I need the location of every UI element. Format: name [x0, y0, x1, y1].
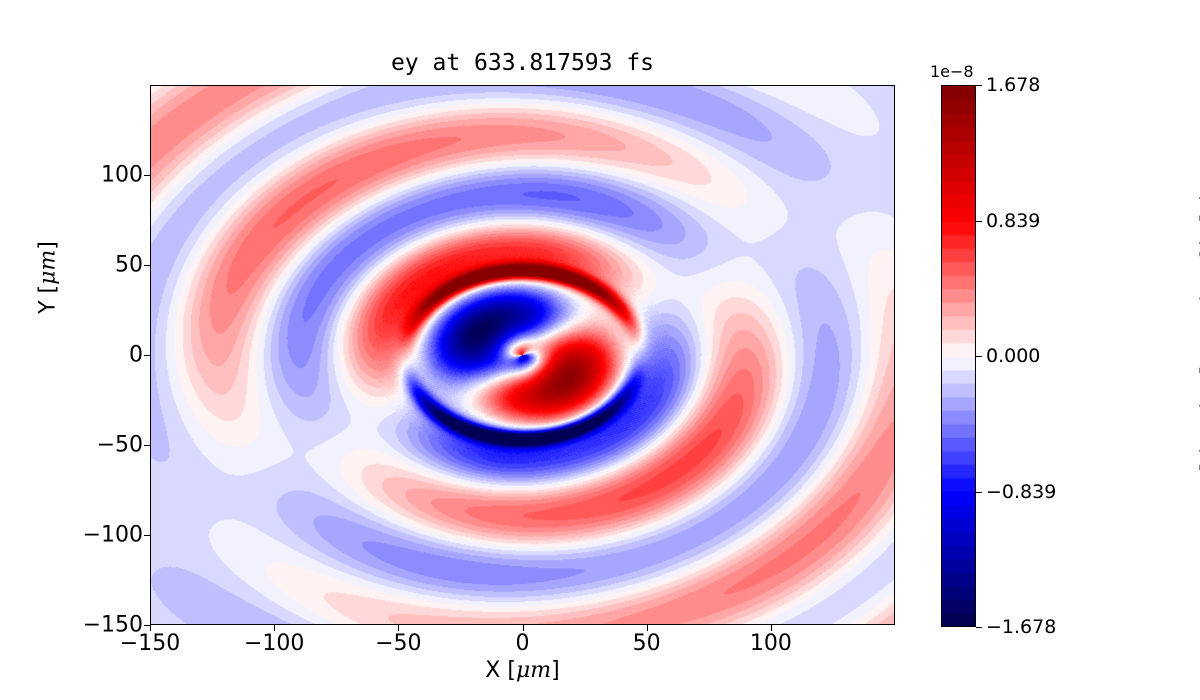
- colorbar-tick-label: 1.678: [986, 74, 1040, 96]
- colorbar-tick-mark: [976, 492, 982, 493]
- y-tick-label: 0: [129, 343, 143, 368]
- plot-title: ey at 633.817593 fs: [150, 50, 895, 76]
- colorbar-tick-label: −0.839: [986, 481, 1056, 503]
- colorbar-tick-mark: [976, 627, 982, 628]
- y-tick-label: 100: [101, 163, 143, 188]
- y-tick-label: −100: [83, 523, 143, 548]
- x-tick-label: −100: [244, 631, 304, 656]
- colorbar-tick-mark: [976, 221, 982, 222]
- colorbar-tick-label: 0.839: [986, 210, 1040, 232]
- y-tick-mark: [144, 445, 150, 446]
- x-tick-label: −50: [375, 631, 421, 656]
- x-axis-label-unit: μm: [516, 658, 551, 683]
- colorbar[interactable]: [941, 85, 976, 627]
- x-tick-label: 50: [633, 631, 661, 656]
- y-tick-mark: [144, 175, 150, 176]
- y-tick-mark: [144, 625, 150, 626]
- y-axis-label-unit: μm: [36, 250, 61, 285]
- x-tick-label: 100: [750, 631, 792, 656]
- x-axis-label: X [μm]: [150, 658, 895, 683]
- y-axis-label-text: Y [: [36, 285, 61, 314]
- y-tick-label: 50: [115, 253, 143, 278]
- x-tick-label: 0: [516, 631, 530, 656]
- y-tick-mark: [144, 535, 150, 536]
- y-axis-label-bracket: ]: [36, 241, 61, 250]
- y-tick-mark: [144, 355, 150, 356]
- x-axis-label-text: X [: [485, 658, 516, 683]
- field-contour-image: [151, 86, 894, 624]
- y-tick-mark: [144, 265, 150, 266]
- contour-plot-area[interactable]: [150, 85, 895, 625]
- y-tick-label: −50: [97, 433, 143, 458]
- figure-canvas: ey at 633.817593 fs −150−100−50050100 10…: [0, 0, 1200, 700]
- x-axis-label-bracket: ]: [551, 658, 560, 683]
- y-tick-label: −150: [83, 613, 143, 638]
- colorbar-tick-label: −1.678: [986, 616, 1056, 638]
- colorbar-gradient: [942, 86, 975, 626]
- colorbar-tick-mark: [976, 85, 982, 86]
- colorbar-tick-mark: [976, 356, 982, 357]
- y-axis-label: Y [μm]: [36, 188, 61, 368]
- colorbar-tick-label: 0.000: [986, 345, 1040, 367]
- colorbar-offset-text: 1e−8: [930, 62, 974, 81]
